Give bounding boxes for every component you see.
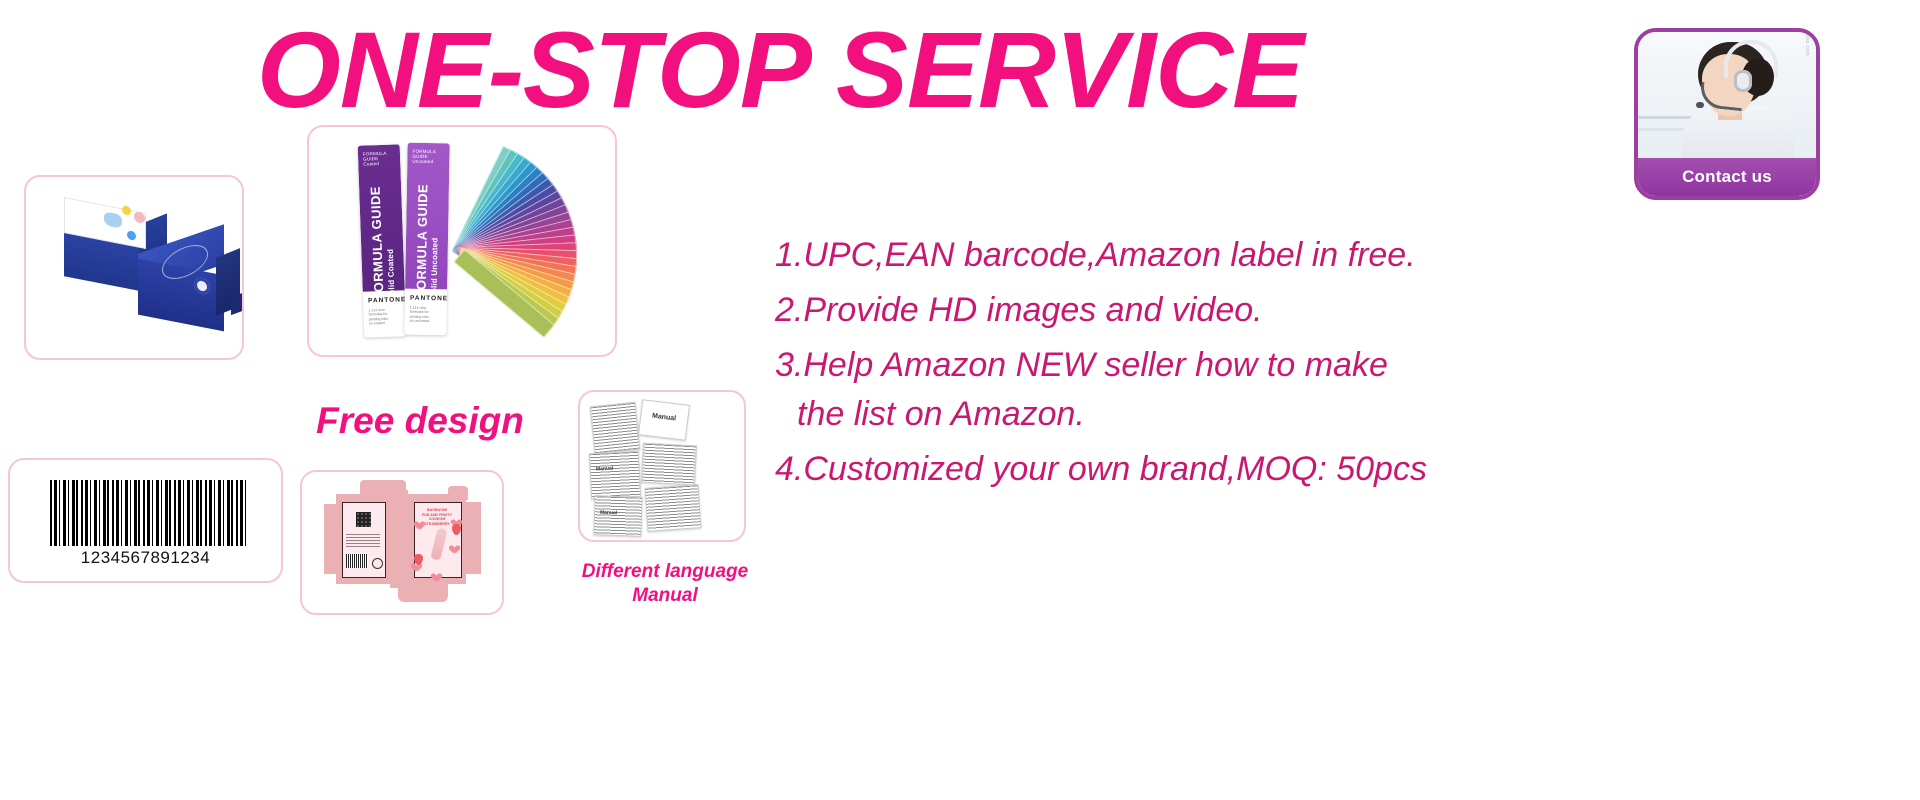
guide-uncoated-brand: PANTONE xyxy=(410,295,448,303)
pantone-guide-coated: FORMULA GUIDE Coated FORMULA GUIDE Solid… xyxy=(358,144,407,337)
gift-box-illustration xyxy=(26,177,242,358)
service-list-item-3-continued: the list on Amazon. xyxy=(775,397,1875,431)
dieline-logo-icon xyxy=(372,558,383,569)
dieline-barcode-icon xyxy=(346,554,368,568)
contact-us-label: Contact us xyxy=(1682,167,1772,187)
guide-coated-header: FORMULA GUIDE Coated FORMULA GUIDE Solid… xyxy=(358,144,405,291)
contact-us-card[interactable]: www.alibaba.com Contact us xyxy=(1634,28,1820,200)
qr-code-icon xyxy=(356,512,371,527)
heart-icon xyxy=(434,570,443,578)
guide-uncoated-title-text: FORMULA GUIDE xyxy=(413,184,430,299)
headset-mic-tip-icon xyxy=(1696,102,1704,108)
guide-coated-title: FORMULA GUIDE Solid Coated xyxy=(367,170,397,301)
manual-photo: Manual Manual Manual xyxy=(578,390,746,542)
dieline-bottom-flap xyxy=(398,582,448,602)
guide-coated-micro: FORMULA GUIDE Coated xyxy=(363,150,395,162)
manual-caption-line2: Manual xyxy=(520,584,810,608)
page-title: ONE-STOP SERVICE xyxy=(0,8,1560,132)
manual-page xyxy=(645,484,702,532)
photo-watermark: www.alibaba.com xyxy=(1804,32,1810,56)
guide-coated-footnote: 1,114 new formulas for printing inks on … xyxy=(368,307,399,326)
manual-caption: Different language Manual xyxy=(520,560,810,609)
guide-uncoated-header: FORMULA GUIDE Uncoated FORMULA GUIDE Sol… xyxy=(405,143,450,290)
contact-us-button[interactable]: Contact us xyxy=(1638,158,1816,196)
service-list: 1.UPC,EAN barcode,Amazon label in free. … xyxy=(775,238,1875,507)
manual-caption-line1: Different language xyxy=(520,560,810,584)
dieline-right-ear xyxy=(465,502,481,574)
pantone-guide-uncoated: FORMULA GUIDE Uncoated FORMULA GUIDE Sol… xyxy=(404,143,449,336)
heart-icon xyxy=(452,542,461,550)
barcode-icon xyxy=(50,480,246,546)
guide-coated-brand: PANTONE xyxy=(368,296,406,304)
blue-box-pull-tab xyxy=(231,293,243,315)
guide-uncoated-footnote: 1,114 new formulas for printing inks on … xyxy=(410,306,440,324)
dieline-legal-text xyxy=(346,534,380,548)
barcode-card: 1234567891234 xyxy=(8,458,283,583)
free-design-label: Free design xyxy=(300,400,540,442)
manual-page xyxy=(589,451,641,500)
service-list-item-2: 2.Provide HD images and video. xyxy=(775,293,1875,327)
manual-page xyxy=(641,443,697,486)
service-list-item-1: 1.UPC,EAN barcode,Amazon label in free. xyxy=(775,238,1875,272)
guide-uncoated-micro: FORMULA GUIDE Uncoated xyxy=(412,149,444,161)
manual-page xyxy=(593,495,642,537)
manual-page-word: Manual xyxy=(596,466,614,473)
manual-page xyxy=(590,402,641,455)
pantone-fan-deck xyxy=(309,127,615,355)
gift-box-photo xyxy=(24,175,244,360)
guide-uncoated-title: FORMULA GUIDE Solid Uncoated xyxy=(413,168,440,298)
customer-service-photo: www.alibaba.com xyxy=(1638,32,1816,160)
dieline-illustration: BAOBAOMI FUN AND FRUITY CONDOM STRAWBERR… xyxy=(302,472,502,613)
heart-icon xyxy=(417,518,426,526)
pantone-guide-photo: FORMULA GUIDE Coated FORMULA GUIDE Solid… xyxy=(307,125,617,357)
service-list-item-4: 4.Customized your own brand,MOQ: 50pcs xyxy=(775,452,1875,486)
headset-icon xyxy=(1724,40,1778,78)
dieline-spine-panel xyxy=(390,490,408,588)
service-list-item-3: 3.Help Amazon NEW seller how to make xyxy=(775,348,1875,382)
guide-uncoated-subtitle: Solid Uncoated xyxy=(429,169,440,299)
packaging-dieline-photo: BAOBAOMI FUN AND FRUITY CONDOM STRAWBERR… xyxy=(300,470,504,615)
heart-icon xyxy=(454,516,463,524)
manual-page-word: Manual xyxy=(600,510,617,517)
barcode-number: 1234567891234 xyxy=(10,548,281,568)
